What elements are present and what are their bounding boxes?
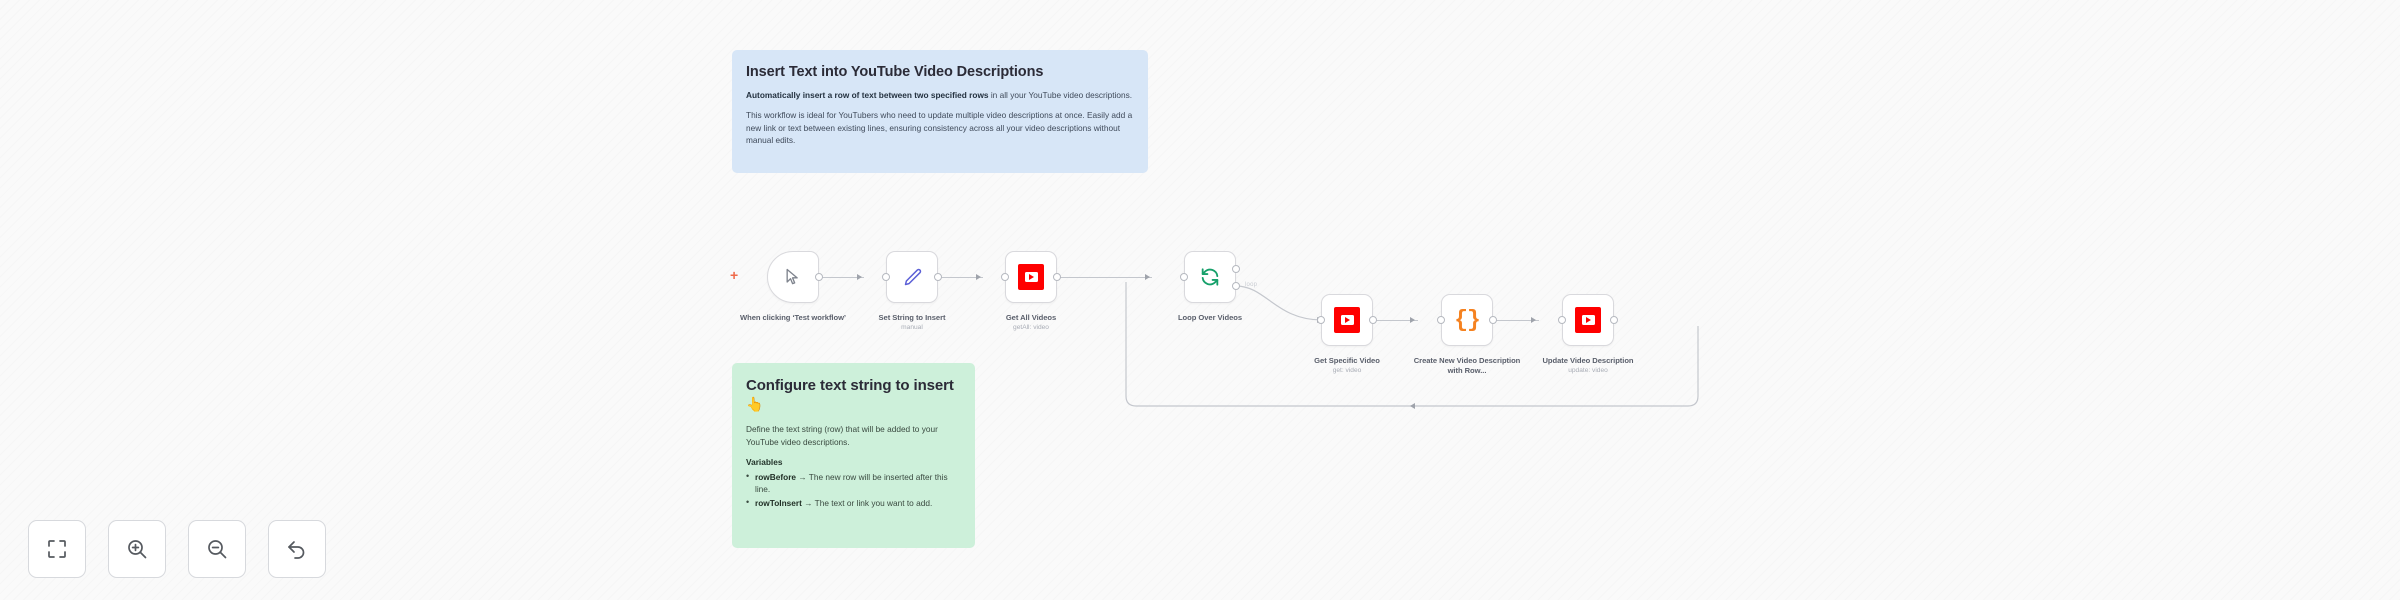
arrow-loopback xyxy=(1410,403,1415,409)
arrow-into-set xyxy=(857,274,862,280)
node-title: Set String to Insert xyxy=(879,313,946,322)
node-label-update-video-description: Update Video Description update: video xyxy=(1530,356,1646,376)
node-subtitle: get: video xyxy=(1289,367,1405,376)
node-output-port[interactable] xyxy=(934,273,942,281)
undo-icon xyxy=(285,537,309,561)
node-input-port[interactable] xyxy=(882,273,890,281)
node-title: Get All Videos xyxy=(1006,313,1056,322)
sticky-note-intro-lead: Automatically insert a row of text betwe… xyxy=(746,89,1134,102)
sticky-note-intro-title: Insert Text into YouTube Video Descripti… xyxy=(746,63,1134,82)
youtube-icon xyxy=(1575,307,1601,333)
node-input-port[interactable] xyxy=(1317,316,1325,324)
arrow-into-getall xyxy=(976,274,981,280)
workflow-canvas[interactable]: Insert Text into YouTube Video Descripti… xyxy=(0,0,2400,600)
variable-name: rowToInsert xyxy=(755,498,802,508)
zoom-in-button[interactable] xyxy=(108,520,166,578)
canvas-zoom-toolbar xyxy=(28,520,326,578)
code-icon: {} xyxy=(1454,309,1480,332)
node-input-port[interactable] xyxy=(1437,316,1445,324)
sticky-note-configure-title-text: Configure text string to insert xyxy=(746,377,954,394)
node-output-port-done[interactable] xyxy=(1232,265,1240,273)
edge-getall-to-loop xyxy=(1060,277,1152,278)
cursor-icon xyxy=(783,267,803,287)
list-item: rowBefore → The new row will be inserted… xyxy=(746,471,961,496)
node-subtitle: getAll: video xyxy=(973,324,1089,333)
node-input-port[interactable] xyxy=(1001,273,1009,281)
node-output-port[interactable] xyxy=(1489,316,1497,324)
zoom-out-button[interactable] xyxy=(188,520,246,578)
node-title: Get Specific Video xyxy=(1314,356,1380,365)
node-output-port-loop[interactable] xyxy=(1232,282,1240,290)
node-set-string-to-insert[interactable] xyxy=(886,251,938,303)
variables-list: rowBefore → The new row will be inserted… xyxy=(746,471,961,510)
node-label-loop-over-videos: Loop Over Videos xyxy=(1152,313,1268,323)
point-up-emoji: 👆 xyxy=(746,396,763,412)
sticky-note-intro[interactable]: Insert Text into YouTube Video Descripti… xyxy=(732,50,1148,173)
youtube-icon xyxy=(1018,264,1044,290)
sticky-note-configure-title: Configure text string to insert 👆 xyxy=(746,376,961,414)
variable-desc: The text or link you want to add. xyxy=(815,498,933,508)
node-output-port[interactable] xyxy=(1610,316,1618,324)
zoom-out-icon xyxy=(205,537,229,561)
node-label-set-string: Set String to Insert manual xyxy=(854,313,970,333)
node-label-get-all-videos: Get All Videos getAll: video xyxy=(973,313,1089,333)
youtube-icon xyxy=(1334,307,1360,333)
node-input-port[interactable] xyxy=(1180,273,1188,281)
fit-view-button[interactable] xyxy=(28,520,86,578)
node-when-clicking-test-workflow[interactable] xyxy=(767,251,819,303)
node-get-specific-video[interactable] xyxy=(1321,294,1373,346)
node-label-create-new-video-description: Create New Video Description with Row... xyxy=(1409,356,1525,377)
sticky-note-intro-lead-bold: Automatically insert a row of text betwe… xyxy=(746,90,989,100)
variable-arrow: → xyxy=(804,498,812,508)
variable-arrow: → xyxy=(798,472,806,482)
sticky-note-intro-body: This workflow is ideal for YouTubers who… xyxy=(746,109,1134,147)
node-get-all-videos[interactable] xyxy=(1005,251,1057,303)
node-label-get-specific-video: Get Specific Video get: video xyxy=(1289,356,1405,376)
node-title: Loop Over Videos xyxy=(1178,313,1242,322)
node-output-port[interactable] xyxy=(815,273,823,281)
node-output-port[interactable] xyxy=(1053,273,1061,281)
fit-view-icon xyxy=(45,537,69,561)
node-title: When clicking ‘Test workflow’ xyxy=(740,313,846,322)
variable-name: rowBefore xyxy=(755,472,796,482)
node-subtitle: update: video xyxy=(1530,367,1646,376)
node-title: Create New Video Description with Row... xyxy=(1414,356,1521,375)
variables-heading: Variables xyxy=(746,457,961,467)
sticky-note-intro-lead-rest: in all your YouTube video descriptions. xyxy=(989,90,1133,100)
reset-zoom-button[interactable] xyxy=(268,520,326,578)
sticky-note-configure-body: Define the text string (row) that will b… xyxy=(746,423,961,448)
edge-label-loop: loop xyxy=(1245,282,1257,288)
pencil-icon xyxy=(902,267,923,288)
node-create-new-video-description[interactable]: {} xyxy=(1441,294,1493,346)
node-output-port[interactable] xyxy=(1369,316,1377,324)
arrow-into-createdesc xyxy=(1410,317,1415,323)
arrow-into-update xyxy=(1531,317,1536,323)
node-update-video-description[interactable] xyxy=(1562,294,1614,346)
list-item: rowToInsert → The text or link you want … xyxy=(746,497,961,509)
node-label-trigger: When clicking ‘Test workflow’ xyxy=(735,313,851,323)
arrow-into-loop xyxy=(1145,274,1150,280)
add-node-plus-icon[interactable]: + xyxy=(730,268,738,282)
zoom-in-icon xyxy=(125,537,149,561)
node-title: Update Video Description xyxy=(1542,356,1633,365)
node-subtitle: manual xyxy=(854,324,970,333)
loop-icon xyxy=(1199,266,1221,288)
node-loop-over-videos[interactable] xyxy=(1184,251,1236,303)
node-input-port[interactable] xyxy=(1558,316,1566,324)
sticky-note-configure[interactable]: Configure text string to insert 👆 Define… xyxy=(732,363,975,548)
